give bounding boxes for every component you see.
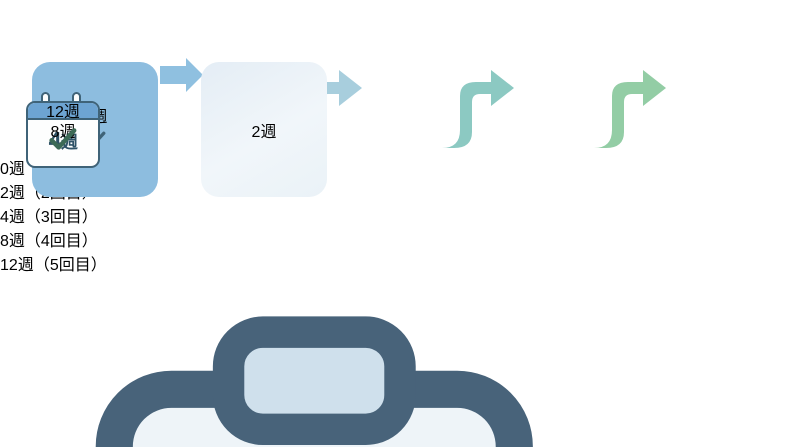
stage-header-week4: 4週（3回目）	[0, 203, 800, 227]
stage-cards-row: 0週 2週	[0, 62, 800, 197]
stage-header-week12: 12週（5回目）	[0, 251, 800, 275]
stage-card-week12[interactable]: 12週	[0, 62, 126, 197]
check-badge-icon	[46, 122, 80, 161]
calendar-body: 2週	[252, 118, 277, 142]
item-list-week0: 状態確認	[0, 275, 800, 447]
calendar-week-label: 2週	[252, 118, 277, 142]
stage-item-lists: 状態確認	[0, 275, 800, 447]
calendar-body: 12週	[46, 98, 80, 122]
calendar-icon-week2: 2週	[252, 118, 277, 142]
stage-card-week2[interactable]: 2週	[201, 62, 327, 197]
stage-header-week8: 8週（4回目）	[0, 227, 800, 251]
list-item[interactable]: 状態確認	[0, 275, 800, 447]
calendar-week-label: 12週	[46, 98, 80, 122]
smoking-cessation-timeline-infographic: 0週 2週	[0, 0, 800, 447]
calendar-icon-week12: 12週	[46, 98, 80, 161]
